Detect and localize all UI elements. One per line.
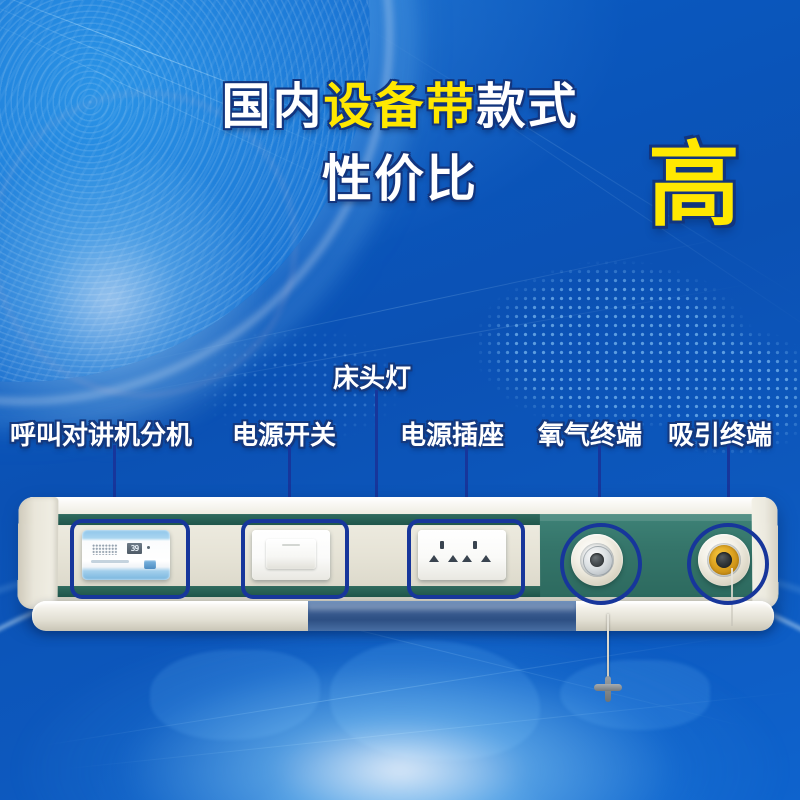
panel-top-highlight (18, 497, 777, 513)
callout-label-power-switch: 电源开关 (232, 415, 336, 452)
power-socket-plate[interactable] (418, 530, 506, 580)
callout-label-power-socket: 电源插座 (400, 415, 504, 452)
suction-terminal-tether (731, 568, 733, 626)
headline-part-2: 设备带 (323, 80, 476, 134)
panel-end-cap-left (18, 497, 59, 609)
headline-emphasis-character: 高 (648, 140, 740, 232)
suction-terminal-outlet[interactable] (698, 534, 750, 586)
intercom-vent-slot (91, 560, 129, 563)
socket-hole-group (418, 541, 506, 567)
headline-part-1: 国内 (221, 80, 323, 134)
oxygen-terminal-outlet[interactable] (571, 534, 623, 586)
pull-cord-handle[interactable] (594, 676, 622, 702)
intercom-indicator-led (147, 546, 150, 549)
suction-terminal-port (716, 552, 732, 568)
callout-label-oxygen-terminal: 氧气终端 (538, 415, 642, 452)
callout-label-intercom: 呼叫对讲机分机 (10, 415, 192, 452)
nurse-call-intercom-unit[interactable]: 39 (82, 530, 170, 580)
oxygen-terminal-port (590, 553, 604, 567)
intercom-display: 39 (127, 543, 142, 554)
panel-end-cap-right (752, 497, 779, 609)
speaker-grille-icon (92, 544, 118, 555)
power-switch-plate[interactable] (252, 530, 330, 580)
promo-image-canvas: 国内设备带款式 性价比 高 呼叫对讲机分机 电源开关 床头灯 电源插座 氧气终端… (0, 0, 800, 800)
rail-blue-segment (308, 601, 576, 631)
panel-lower-rail (32, 601, 774, 631)
callout-label-suction-terminal: 吸引终端 (668, 415, 772, 452)
intercom-call-button[interactable] (144, 560, 156, 569)
headline-line-2-text: 性价比 (322, 151, 478, 207)
callout-label-bed-lamp: 床头灯 (333, 358, 411, 395)
power-switch-rocker[interactable] (266, 539, 316, 569)
headline-line-1: 国内设备带款式 (0, 82, 800, 133)
headline-part-3: 款式 (477, 80, 579, 134)
